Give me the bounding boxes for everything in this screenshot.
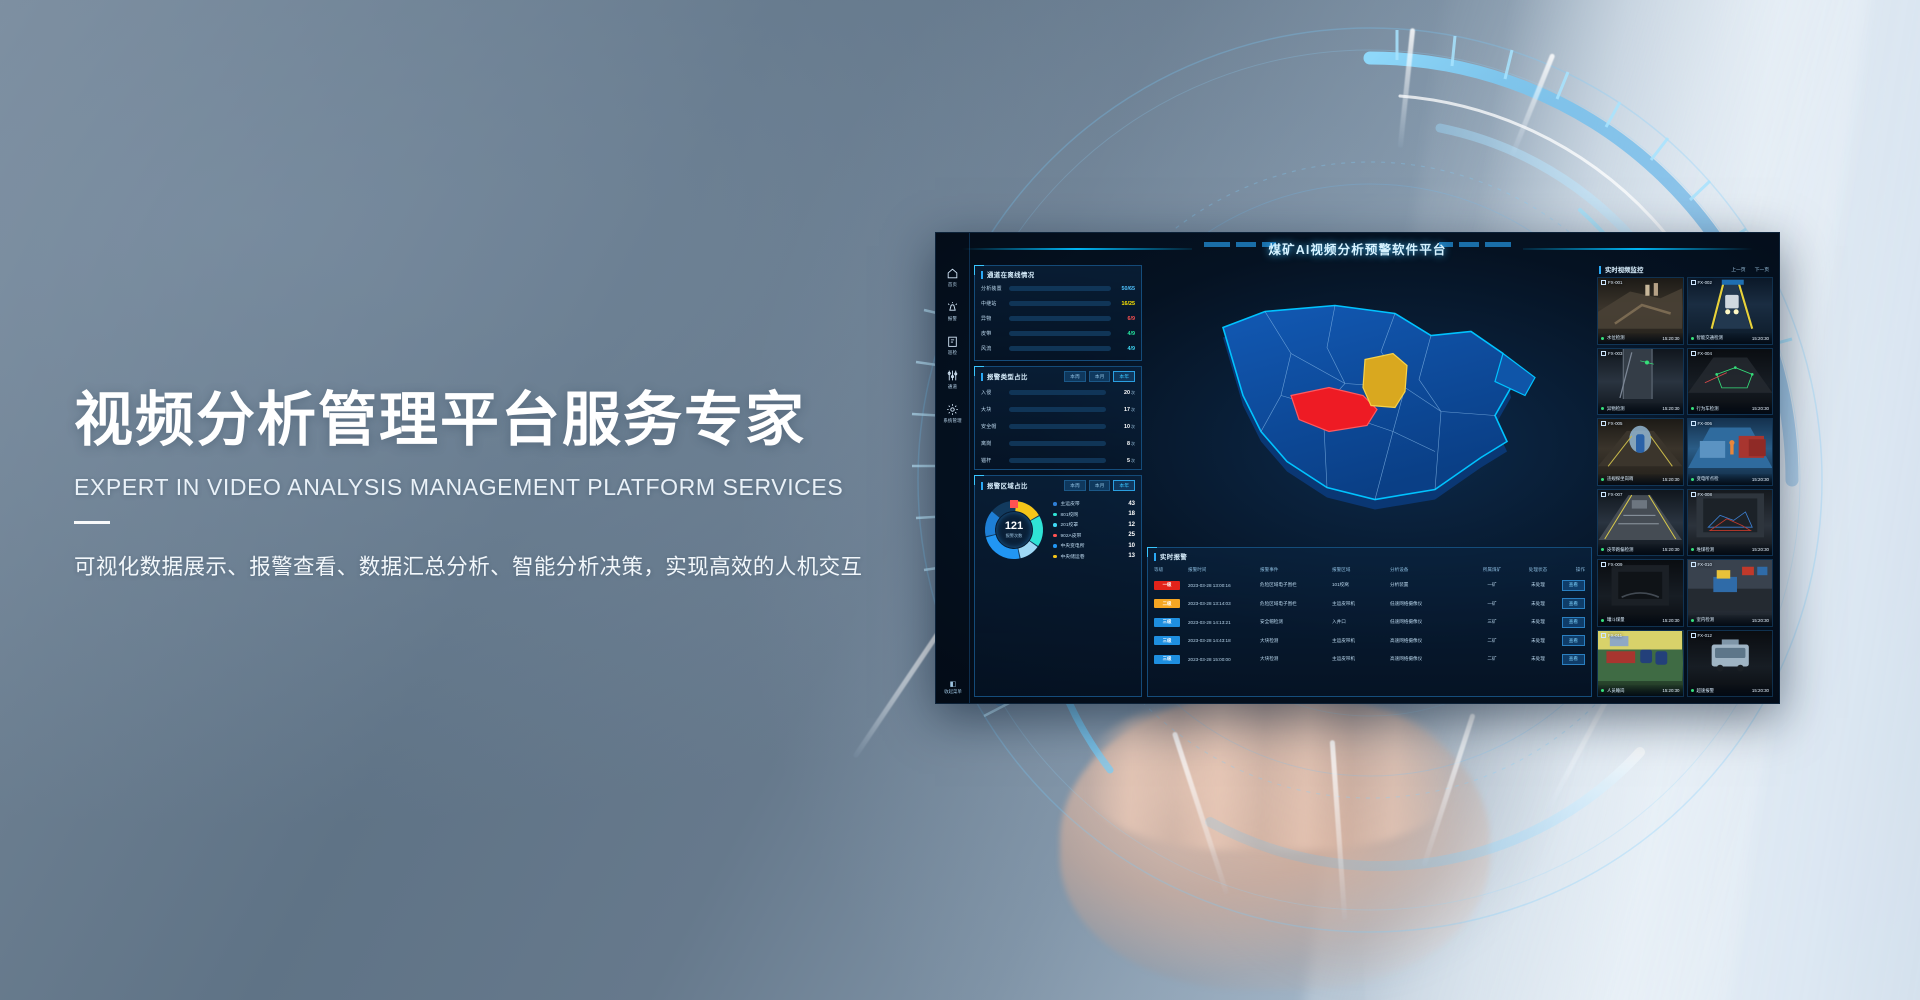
view-button[interactable]: 查看 <box>1562 635 1585 646</box>
left-column: 通道在离线情况 分析装置 50/65 中继站 16/25 <box>974 265 1142 697</box>
channel-icon <box>946 369 959 382</box>
type-panel-header: 报警类型占比 本周 本月 本年 <box>975 367 1141 384</box>
gear-icon <box>946 403 959 416</box>
camera-name: 行为车检测 <box>1697 406 1719 412</box>
alarm-event: 危险区域电子围栏 <box>1260 601 1332 607</box>
channel-row: 皮带 4/9 <box>975 326 1141 341</box>
view-button[interactable]: 查看 <box>1562 598 1585 609</box>
video-grid: FX-001 水位检测 15:20:30 <box>1597 277 1773 697</box>
video-footer: 水位检测 15:20:30 <box>1598 333 1683 344</box>
alarm-device: 高速网络摄像仪 <box>1390 656 1468 662</box>
col-action: 操作 <box>1560 567 1585 573</box>
legend-value: 10 <box>1119 543 1135 549</box>
camera-id: FX-012 <box>1691 633 1712 638</box>
camera-time: 15:20:30 <box>1662 547 1679 552</box>
type-panel-title: 报警类型占比 <box>987 372 1028 381</box>
camera-id: FX-001 <box>1601 280 1622 285</box>
camera-id: FX-003 <box>1601 351 1622 356</box>
video-overlay <box>1598 349 1682 400</box>
camera-time: 15:20:30 <box>1662 336 1679 341</box>
channel-panel-header: 通道在离线情况 <box>975 266 1141 281</box>
table-row[interactable]: 二级 2023-03-28 13:14:03 危险区域电子围栏 主运皮带机 低速… <box>1154 595 1585 614</box>
video-tile[interactable]: FX-011 人员睡岗 15:20:30 <box>1597 630 1684 698</box>
video-tile[interactable]: FX-010 室内检测 15:20:30 <box>1687 559 1774 627</box>
legend-dot <box>1053 502 1057 506</box>
channel-name: 异物 <box>981 315 1009 322</box>
app-title: 煤矿AI视频分析预警软件平台 <box>1269 239 1447 258</box>
alarm-area: 主运皮带机 <box>1332 638 1390 644</box>
col-level: 等级 <box>1154 567 1188 573</box>
alarm-area: 入井口 <box>1332 619 1390 625</box>
alarm-mine: 三矿 <box>1468 619 1516 625</box>
legend-value: 13 <box>1119 553 1135 559</box>
video-footer: 皮带跑偏检测 15:20:30 <box>1598 544 1683 555</box>
table-row[interactable]: 三级 2023-03-28 14:13:21 安全帽检测 入井口 低速网络摄像仪… <box>1154 613 1585 632</box>
type-row: 入侵 20 次 <box>975 384 1141 401</box>
center-column: 实时报警 等级 报警时间 报警事件 报警区域 分析设备 所属煤矿 处理状态 操作 <box>1147 265 1592 697</box>
video-tile[interactable]: FX-002 智能交通检测 15:20:30 <box>1687 277 1774 345</box>
legend-name: 主运皮带 <box>1061 500 1120 507</box>
prev-page-button[interactable]: 上一页 <box>1731 266 1745 273</box>
view-button[interactable]: 查看 <box>1562 654 1585 665</box>
sidebar-label-inspection: 巡检 <box>948 350 957 356</box>
type-track <box>1009 424 1106 429</box>
legend-item: 902A皮带 25 <box>1053 532 1135 539</box>
camera-time: 15:20:30 <box>1752 688 1769 693</box>
alarm-status: 未处理 <box>1516 638 1560 644</box>
topbar-deco-right <box>1523 248 1753 250</box>
camera-name: 水位检测 <box>1607 335 1625 341</box>
online-dot <box>1601 337 1604 340</box>
alarm-level-cell: 一级 <box>1154 581 1188 590</box>
type-name: 离岗 <box>981 440 1009 447</box>
type-value: 10 <box>1106 424 1130 430</box>
alarm-device: 高速网络摄像仪 <box>1390 638 1468 644</box>
video-tile[interactable]: FX-008 堆煤检测 15:20:30 <box>1687 489 1774 557</box>
table-row[interactable]: 三级 2023-03-28 14:43:18 大块检测 主运皮带机 高速网络摄像… <box>1154 632 1585 651</box>
col-status: 处理状态 <box>1516 567 1560 573</box>
channel-track <box>1009 301 1111 306</box>
type-track <box>1009 407 1106 412</box>
camera-id: FX-010 <box>1691 562 1712 567</box>
next-page-button[interactable]: 下一页 <box>1755 266 1769 273</box>
legend-item: 801绞网 18 <box>1053 511 1135 518</box>
video-overlay <box>1688 419 1772 470</box>
camera-time: 15:20:30 <box>1752 336 1769 341</box>
title-accent-bar <box>981 271 983 279</box>
alarm-type-panel: 报警类型占比 本周 本月 本年 入侵 20 次 <box>974 366 1142 470</box>
channel-value: 50/65 <box>1111 286 1135 292</box>
legend-name: 801绞网 <box>1061 511 1120 518</box>
alarm-status: 未处理 <box>1516 582 1560 588</box>
realtime-alarm-panel: 实时报警 等级 报警时间 报警事件 报警区域 分析设备 所属煤矿 处理状态 操作 <box>1147 547 1592 697</box>
tab-month[interactable]: 本月 <box>1089 480 1111 491</box>
channel-row: 中继站 16/25 <box>975 296 1141 311</box>
type-bar-list: 入侵 20 次 大块 17 次 安全帽 <box>975 384 1141 469</box>
alarm-area: 101绞窝 <box>1332 582 1390 588</box>
alarm-event: 危险区域电子围栏 <box>1260 582 1332 588</box>
channel-row: 分析装置 50/65 <box>975 281 1141 296</box>
channel-value: 4/9 <box>1111 346 1135 352</box>
video-column: 实时视频监控 上一页 下一页 <box>1597 265 1773 697</box>
alarm-level-cell: 三级 <box>1154 618 1188 627</box>
alarm-level-cell: 三级 <box>1154 655 1188 664</box>
sidebar-label-system: 系统管理 <box>943 418 961 424</box>
clipboard-icon <box>946 335 959 348</box>
camera-name: 异物检测 <box>1607 406 1625 412</box>
camera-time: 15:20:30 <box>1752 547 1769 552</box>
col-event: 报警事件 <box>1260 567 1332 573</box>
legend-dot <box>1053 534 1057 538</box>
donut-center: 121 报警次数 <box>996 512 1032 548</box>
video-footer: 异物检测 15:20:30 <box>1598 403 1683 414</box>
alarm-status: 未处理 <box>1516 619 1560 625</box>
alarm-mine: 二矿 <box>1468 638 1516 644</box>
legend-value: 43 <box>1119 501 1135 507</box>
channel-panel-title: 通道在离线情况 <box>987 270 1035 279</box>
type-row: 锚杆 5 次 <box>975 452 1141 469</box>
topbar-chevron-4 <box>1485 242 1511 247</box>
legend-name: 902A皮带 <box>1061 532 1120 539</box>
legend-item: 201绞罩 12 <box>1053 521 1135 528</box>
alarm-panel-header: 实时报警 <box>1148 548 1591 563</box>
camera-name: 堆煤检测 <box>1697 547 1715 553</box>
camera-time: 15:20:30 <box>1662 618 1679 623</box>
type-row: 离岗 8 次 <box>975 435 1141 452</box>
area-panel-title: 报警区域占比 <box>987 481 1028 490</box>
alarm-action-cell: 查看 <box>1560 617 1585 628</box>
camera-id: FX-006 <box>1691 421 1712 426</box>
type-track <box>1009 441 1106 446</box>
video-overlay <box>1688 631 1772 682</box>
type-value: 17 <box>1106 407 1130 413</box>
online-dot <box>1691 548 1694 551</box>
legend-item: 中央变电所 10 <box>1053 542 1135 549</box>
alarm-event: 安全帽检测 <box>1260 619 1332 625</box>
alarm-status: 未处理 <box>1516 601 1560 607</box>
donut-chart: 121 报警次数 <box>981 497 1047 563</box>
legend-item: 中央储运巷 13 <box>1053 553 1135 560</box>
map-region-yellow <box>1363 353 1407 407</box>
hero-text-block: 视频分析管理平台服务专家 EXPERT IN VIDEO ANALYSIS MA… <box>74 390 954 581</box>
status-badge: 三级 <box>1154 636 1180 645</box>
camera-id: FX-005 <box>1601 421 1622 426</box>
channel-name: 风流 <box>981 345 1009 352</box>
alarm-level-cell: 二级 <box>1154 599 1188 608</box>
alarm-area: 主运皮带机 <box>1332 656 1390 662</box>
sidebar-label-alarm: 报警 <box>948 316 957 322</box>
alarm-event: 大块检测 <box>1260 656 1332 662</box>
divider-rule <box>74 521 110 524</box>
tab-week[interactable]: 本周 <box>1064 480 1086 491</box>
camera-time: 15:20:30 <box>1752 477 1769 482</box>
camera-time: 15:20:30 <box>1752 406 1769 411</box>
alarm-area: 主运皮带机 <box>1332 601 1390 607</box>
channel-value: 16/25 <box>1111 301 1135 307</box>
video-overlay <box>1688 560 1772 611</box>
alarm-time: 2023-03-28 13:00:16 <box>1188 583 1260 588</box>
camera-name: 智能交通检测 <box>1697 335 1723 341</box>
title-accent-bar <box>1154 553 1156 561</box>
area-panel-header: 报警区域占比 本周 本月 本年 <box>975 476 1141 493</box>
sidebar-item-alarm[interactable]: 报警 <box>936 301 970 322</box>
alarm-action-cell: 查看 <box>1560 654 1585 665</box>
camera-id: FX-008 <box>1691 492 1712 497</box>
region-map[interactable] <box>1147 265 1592 542</box>
legend-name: 201绞罩 <box>1061 521 1120 528</box>
alarm-action-cell: 查看 <box>1560 580 1585 591</box>
type-row: 大块 17 次 <box>975 401 1141 418</box>
type-name: 锚杆 <box>981 457 1009 464</box>
col-area: 报警区域 <box>1332 567 1390 573</box>
topbar-deco-left <box>962 248 1192 250</box>
col-device: 分析设备 <box>1390 567 1468 573</box>
dashboard-screen: 煤矿AI视频分析预警软件平台 首页 报警 巡检 <box>935 232 1780 704</box>
online-dot <box>1601 478 1604 481</box>
region-map-svg <box>1195 291 1545 516</box>
type-unit: 次 <box>1131 424 1135 430</box>
video-overlay <box>1598 278 1682 329</box>
legend-dot <box>1053 513 1057 517</box>
title-accent-bar <box>1599 266 1601 274</box>
legend-value: 25 <box>1119 532 1135 538</box>
channel-track <box>1009 331 1111 336</box>
camera-time: 15:20:30 <box>1662 406 1679 411</box>
view-button[interactable]: 查看 <box>1562 580 1585 591</box>
channel-row: 异物 6/9 <box>975 311 1141 326</box>
alarm-level-cell: 三级 <box>1154 636 1188 645</box>
alarm-time: 2023-03-28 14:13:21 <box>1188 620 1260 625</box>
camera-name: 罐斗煤量 <box>1607 617 1625 623</box>
sidebar-label-home: 首页 <box>948 282 957 288</box>
type-value: 20 <box>1106 390 1130 396</box>
channel-name: 中继站 <box>981 300 1009 307</box>
online-dot <box>1691 478 1694 481</box>
video-overlay <box>1688 490 1772 541</box>
video-tile[interactable]: FX-007 皮带跑偏检测 15:20:30 <box>1597 489 1684 557</box>
camera-id: FX-011 <box>1601 633 1622 638</box>
type-row: 安全帽 10 次 <box>975 418 1141 435</box>
alarm-mine: 一矿 <box>1468 601 1516 607</box>
status-badge: 三级 <box>1154 618 1180 627</box>
topbar-chevron-5 <box>1459 242 1479 247</box>
video-footer: 室内检测 15:20:30 <box>1688 615 1773 626</box>
video-tile[interactable]: FX-005 违规探坐岗哨 15:20:30 <box>1597 418 1684 486</box>
channel-name: 分析装置 <box>981 285 1009 292</box>
legend-dot <box>1053 544 1057 548</box>
type-track <box>1009 458 1106 463</box>
status-badge: 二级 <box>1154 599 1180 608</box>
camera-name: 违规探坐岗哨 <box>1607 476 1633 482</box>
view-button[interactable]: 查看 <box>1562 617 1585 628</box>
sidebar-item-system[interactable]: 系统管理 <box>936 403 970 424</box>
video-footer: 人员睡岗 15:20:30 <box>1598 685 1683 696</box>
donut-value: 121 <box>1005 521 1023 532</box>
video-footer: 罐斗煤量 15:20:30 <box>1598 615 1683 626</box>
online-dot <box>1601 548 1604 551</box>
type-panel-tabs: 本周 本月 本年 <box>1064 371 1135 382</box>
type-name: 安全帽 <box>981 423 1009 430</box>
channel-value: 4/9 <box>1111 331 1135 337</box>
alarm-table-header: 等级 报警时间 报警事件 报警区域 分析设备 所属煤矿 处理状态 操作 <box>1154 563 1585 576</box>
title-accent-bar <box>981 482 983 490</box>
alarm-area-panel: 报警区域占比 本周 本月 本年 <box>974 475 1142 697</box>
col-mine: 所属煤矿 <box>1468 567 1516 573</box>
type-unit: 次 <box>1131 407 1135 413</box>
legend-value: 18 <box>1119 511 1135 517</box>
topbar-chevron-1 <box>1204 242 1230 247</box>
tab-year[interactable]: 本年 <box>1113 480 1135 491</box>
online-dot <box>1601 689 1604 692</box>
sidebar-item-inspection[interactable]: 巡检 <box>936 335 970 356</box>
table-row[interactable]: 一级 2023-03-28 13:00:16 危险区域电子围栏 101绞窝 分析… <box>1154 576 1585 595</box>
channel-bar-list: 分析装置 50/65 中继站 16/25 异物 6/9 <box>975 281 1141 356</box>
status-badge: 一级 <box>1154 581 1180 590</box>
donut-legend: 主运皮带 43 801绞网 18 201绞罩 12 <box>1047 497 1135 563</box>
title-accent-bar <box>981 373 983 381</box>
video-overlay <box>1688 349 1772 400</box>
alarm-mine: 二矿 <box>1468 656 1516 662</box>
alarm-event: 大块检测 <box>1260 638 1332 644</box>
type-name: 大块 <box>981 406 1009 413</box>
video-tile[interactable]: FX-012 超速报警 15:20:30 <box>1687 630 1774 698</box>
type-value: 8 <box>1106 441 1130 447</box>
alarm-device: 低速网络摄像仪 <box>1390 619 1468 625</box>
video-footer: 超速报警 15:20:30 <box>1688 685 1773 696</box>
alarm-device: 低速网络摄像仪 <box>1390 601 1468 607</box>
type-value: 5 <box>1106 458 1130 464</box>
camera-id: FX-009 <box>1601 562 1622 567</box>
legend-name: 中央变电所 <box>1061 542 1120 549</box>
alarm-mine: 一矿 <box>1468 582 1516 588</box>
channel-name: 皮带 <box>981 330 1009 337</box>
camera-name: 皮带跑偏检测 <box>1607 547 1633 553</box>
video-footer: 变电所点检 15:20:30 <box>1688 474 1773 485</box>
camera-name: 变电所点检 <box>1697 476 1719 482</box>
camera-id: FX-007 <box>1601 492 1622 497</box>
topbar-chevron-2 <box>1236 242 1256 247</box>
tab-week[interactable]: 本周 <box>1064 371 1086 382</box>
video-footer: 行为车检测 15:20:30 <box>1688 403 1773 414</box>
channel-track <box>1009 316 1111 321</box>
video-overlay <box>1598 631 1682 682</box>
video-tile[interactable]: FX-004 行为车检测 15:20:30 <box>1687 348 1774 416</box>
alarm-icon <box>946 301 959 314</box>
video-pagination: 上一页 下一页 <box>1731 266 1769 273</box>
camera-name: 室内检测 <box>1697 617 1715 623</box>
alarm-action-cell: 查看 <box>1560 635 1585 646</box>
online-dot <box>1691 337 1694 340</box>
sidebar-item-channel[interactable]: 通道 <box>936 369 970 390</box>
video-tile[interactable]: FX-003 异物检测 15:20:30 <box>1597 348 1684 416</box>
camera-name: 超速报警 <box>1697 688 1715 694</box>
video-overlay <box>1688 278 1772 329</box>
alarm-status: 未处理 <box>1516 656 1560 662</box>
sidebar-label-channel: 通道 <box>948 384 957 390</box>
legend-item: 主运皮带 43 <box>1053 500 1135 507</box>
tab-month[interactable]: 本月 <box>1089 371 1111 382</box>
col-time: 报警时间 <box>1188 567 1260 573</box>
channel-status-panel: 通道在离线情况 分析装置 50/65 中继站 16/25 <box>974 265 1142 361</box>
online-dot <box>1601 407 1604 410</box>
collapse-menu-button[interactable]: ◧ 收起菜单 <box>936 681 970 695</box>
page-title: 视频分析管理平台服务专家 <box>74 390 954 452</box>
video-overlay <box>1598 490 1682 541</box>
video-tile[interactable]: FX-006 变电所点检 15:20:30 <box>1687 418 1774 486</box>
type-unit: 次 <box>1131 441 1135 447</box>
home-icon <box>946 267 959 280</box>
alarm-time: 2023-03-28 13:14:03 <box>1188 601 1260 606</box>
channel-track <box>1009 346 1111 351</box>
video-overlay <box>1598 560 1682 611</box>
video-tile[interactable]: FX-001 水位检测 15:20:30 <box>1597 277 1684 345</box>
online-dot <box>1601 619 1604 622</box>
video-panel-header: 实时视频监控 上一页 下一页 <box>1597 265 1773 277</box>
collapse-label: 收起菜单 <box>936 689 970 695</box>
type-unit: 次 <box>1131 458 1135 464</box>
alarm-action-cell: 查看 <box>1560 598 1585 609</box>
status-badge: 三级 <box>1154 655 1180 664</box>
alarm-device: 分析装置 <box>1390 582 1468 588</box>
legend-dot <box>1053 523 1057 527</box>
video-tile[interactable]: FX-009 罐斗煤量 15:20:30 <box>1597 559 1684 627</box>
video-panel-title: 实时视频监控 <box>1605 265 1643 274</box>
sidebar-item-home[interactable]: 首页 <box>936 267 970 288</box>
channel-track <box>1009 286 1111 291</box>
donut-label: 报警次数 <box>1006 533 1023 539</box>
camera-name: 人员睡岗 <box>1607 688 1625 694</box>
camera-id: FX-002 <box>1691 280 1712 285</box>
alarm-table: 等级 报警时间 报警事件 报警区域 分析设备 所属煤矿 处理状态 操作 一级 2… <box>1148 563 1591 669</box>
online-dot <box>1691 689 1694 692</box>
camera-id: FX-004 <box>1691 351 1712 356</box>
video-overlay <box>1598 419 1682 470</box>
tab-year[interactable]: 本年 <box>1113 371 1135 382</box>
video-footer: 违规探坐岗哨 15:20:30 <box>1598 474 1683 485</box>
camera-time: 15:20:30 <box>1752 618 1769 623</box>
channel-row: 风流 4/9 <box>975 341 1141 356</box>
online-dot <box>1691 619 1694 622</box>
legend-dot <box>1053 555 1057 559</box>
channel-value: 6/9 <box>1111 316 1135 322</box>
alarm-time: 2023-03-28 14:43:18 <box>1188 638 1260 643</box>
online-dot <box>1691 407 1694 410</box>
dashboard-topbar: 煤矿AI视频分析预警软件平台 <box>936 233 1779 263</box>
area-panel-tabs: 本周 本月 本年 <box>1064 480 1135 491</box>
type-unit: 次 <box>1131 390 1135 396</box>
alarm-time: 2023-03-28 15:00:00 <box>1188 657 1260 662</box>
area-donut-block: 121 报警次数 主运皮带 43 <box>975 493 1141 563</box>
video-footer: 智能交通检测 15:20:30 <box>1688 333 1773 344</box>
legend-name: 中央储运巷 <box>1061 553 1120 560</box>
type-name: 入侵 <box>981 389 1009 396</box>
hero-subtitle: EXPERT IN VIDEO ANALYSIS MANAGEMENT PLAT… <box>74 474 954 501</box>
camera-time: 15:20:30 <box>1662 477 1679 482</box>
collapse-icon: ◧ <box>936 681 970 689</box>
legend-value: 12 <box>1119 522 1135 528</box>
table-row[interactable]: 三级 2023-03-28 15:00:00 大块检测 主运皮带机 高速网络摄像… <box>1154 650 1585 669</box>
camera-time: 15:20:30 <box>1662 688 1679 693</box>
alarm-panel-title: 实时报警 <box>1160 552 1187 561</box>
sidebar: 首页 报警 巡检 通道 <box>936 233 970 703</box>
type-track <box>1009 390 1106 395</box>
hero-description: 可视化数据展示、报警查看、数据汇总分析、智能分析决策，实现高效的人机交互 <box>74 550 954 581</box>
video-footer: 堆煤检测 15:20:30 <box>1688 544 1773 555</box>
